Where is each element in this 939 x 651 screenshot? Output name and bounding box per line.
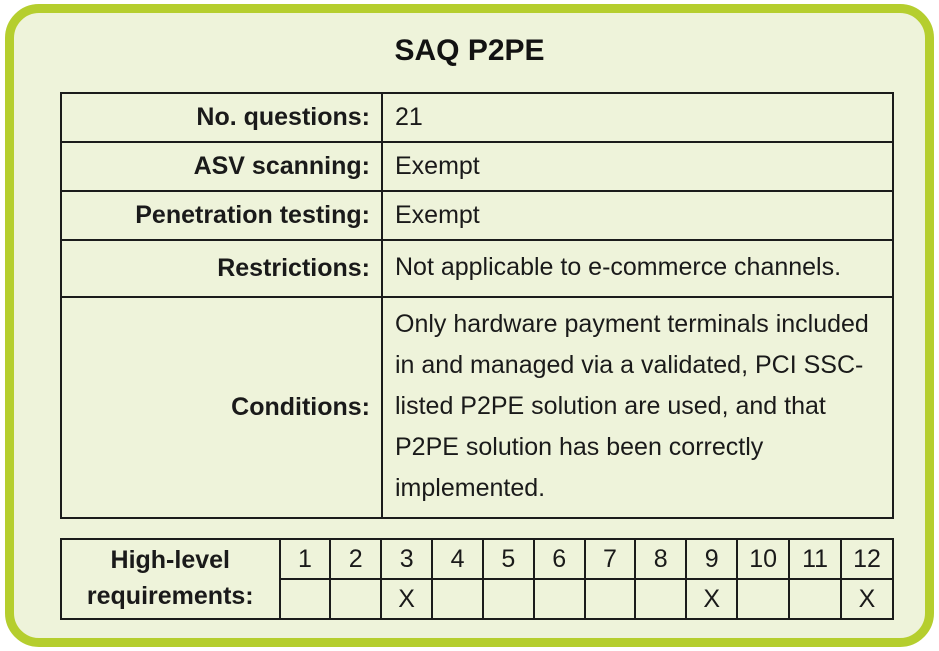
requirements-label-line-2: requirements: — [68, 578, 273, 614]
info-value-penetration-testing: Exempt — [382, 191, 893, 240]
requirement-mark-6 — [534, 579, 585, 619]
requirements-label-line-1: High-level — [68, 542, 273, 578]
saq-info-table: No. questions: 21 ASV scanning: Exempt P… — [60, 92, 894, 519]
requirements-table-body: High-level requirements: 1 2 3 4 5 6 7 8… — [61, 539, 893, 619]
info-label-conditions: Conditions: — [61, 297, 382, 518]
requirements-label: High-level requirements: — [61, 539, 280, 619]
table-row: Conditions: Only hardware payment termin… — [61, 297, 893, 518]
info-label-asv-scanning: ASV scanning: — [61, 142, 382, 191]
requirement-mark-11 — [789, 579, 841, 619]
requirement-mark-2 — [330, 579, 381, 619]
table-row: No. questions: 21 — [61, 93, 893, 142]
table-row: Penetration testing: Exempt — [61, 191, 893, 240]
requirement-mark-3: X — [381, 579, 432, 619]
requirement-mark-8 — [635, 579, 686, 619]
requirement-number-3: 3 — [381, 539, 432, 579]
requirement-mark-1 — [280, 579, 331, 619]
requirement-mark-12: X — [841, 579, 893, 619]
requirement-number-5: 5 — [483, 539, 534, 579]
info-value-restrictions: Not applicable to e-commerce channels. — [382, 240, 893, 297]
requirement-number-7: 7 — [585, 539, 636, 579]
requirement-number-8: 8 — [635, 539, 686, 579]
table-row: High-level requirements: 1 2 3 4 5 6 7 8… — [61, 539, 893, 579]
info-table-body: No. questions: 21 ASV scanning: Exempt P… — [61, 93, 893, 518]
info-label-no-questions: No. questions: — [61, 93, 382, 142]
info-label-restrictions: Restrictions: — [61, 240, 382, 297]
info-value-conditions: Only hardware payment terminals included… — [382, 297, 893, 518]
requirement-number-2: 2 — [330, 539, 381, 579]
info-label-penetration-testing: Penetration testing: — [61, 191, 382, 240]
requirement-mark-7 — [585, 579, 636, 619]
requirement-number-9: 9 — [686, 539, 737, 579]
requirement-number-4: 4 — [432, 539, 483, 579]
saq-card: SAQ P2PE No. questions: 21 ASV scanning:… — [5, 4, 934, 647]
table-row: Restrictions: Not applicable to e-commer… — [61, 240, 893, 297]
requirement-number-6: 6 — [534, 539, 585, 579]
requirement-number-1: 1 — [280, 539, 331, 579]
requirement-mark-4 — [432, 579, 483, 619]
requirement-number-11: 11 — [789, 539, 841, 579]
requirement-number-10: 10 — [737, 539, 789, 579]
info-value-asv-scanning: Exempt — [382, 142, 893, 191]
high-level-requirements-table: High-level requirements: 1 2 3 4 5 6 7 8… — [60, 538, 894, 620]
requirement-mark-10 — [737, 579, 789, 619]
requirement-mark-9: X — [686, 579, 737, 619]
page-title: SAQ P2PE — [14, 33, 925, 69]
info-value-no-questions: 21 — [382, 93, 893, 142]
requirement-mark-5 — [483, 579, 534, 619]
requirement-number-12: 12 — [841, 539, 893, 579]
table-row: ASV scanning: Exempt — [61, 142, 893, 191]
